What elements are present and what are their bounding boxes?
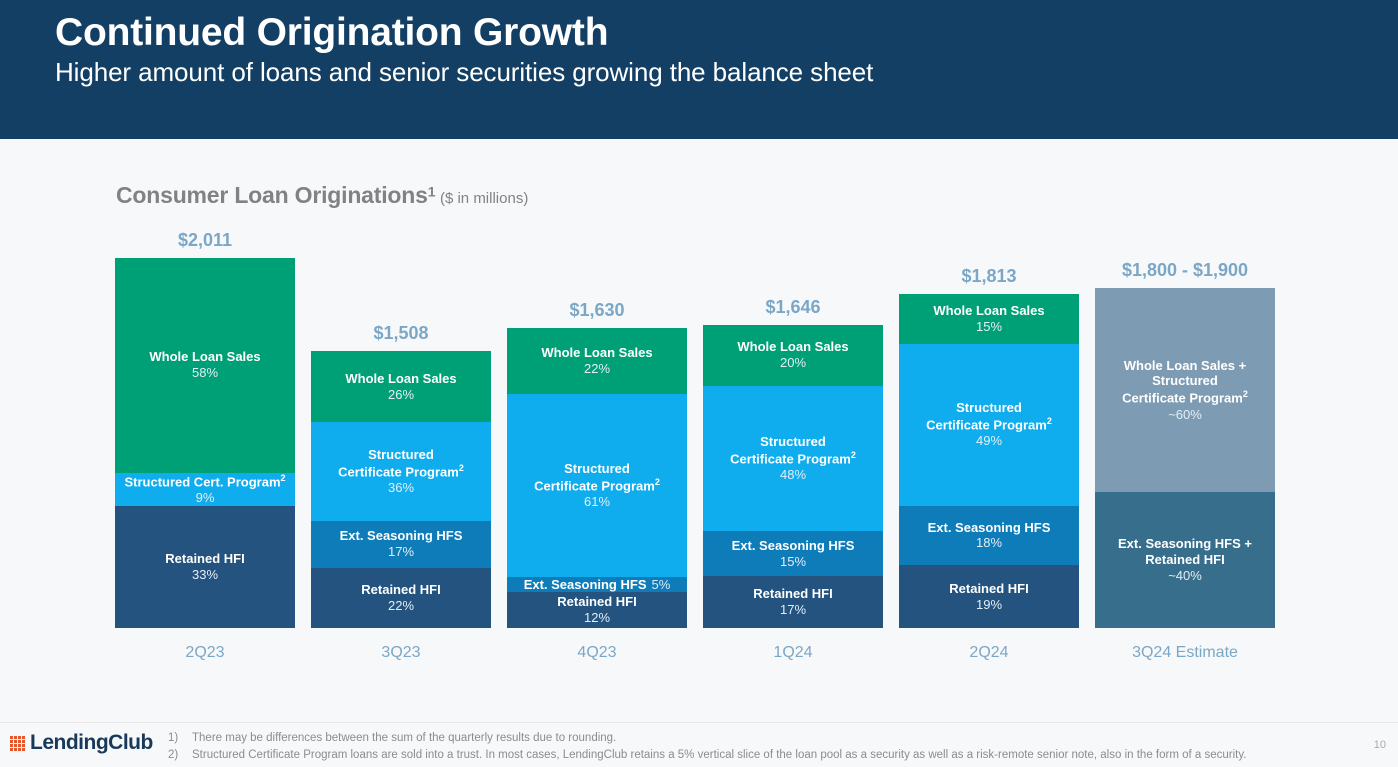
bar-segment-label: Ext. Seasoning HFS [928, 520, 1051, 536]
footnotes: 1)There may be differences between the s… [168, 730, 1246, 765]
bar-segment[interactable]: Ext. Seasoning HFS17% [311, 521, 491, 568]
chart-column: $1,508Whole Loan Sales26%StructuredCerti… [311, 0, 491, 767]
lendingclub-wordmark: LendingClub [30, 731, 153, 755]
bar-segment-label: Retained HFI [361, 582, 440, 598]
bar-segment[interactable]: StructuredCertificate Program249% [899, 344, 1079, 506]
footer-divider [0, 722, 1398, 723]
bar-segment-label: Retained HFI [557, 594, 636, 610]
footnote-superscript: 2 [281, 473, 286, 483]
bar-segment-label: Retained HFI [949, 581, 1028, 597]
bar-segment[interactable]: Whole Loan Sales20% [703, 325, 883, 386]
bar-segment-percent: 22% [388, 598, 414, 614]
bar-segment-percent: ~60% [1168, 407, 1202, 423]
bar-segment[interactable]: Whole Loan Sales15% [899, 294, 1079, 344]
bar-total-label: $1,813 [899, 266, 1079, 287]
bar-segment[interactable]: Ext. Seasoning HFS +Retained HFI~40% [1095, 492, 1275, 628]
footnote-text: Structured Certificate Program loans are… [192, 747, 1246, 764]
bar-segment-label: StructuredCertificate Program2 [338, 447, 464, 480]
bar-segment-label: Whole Loan Sales [149, 349, 260, 365]
bar-segment[interactable]: Retained HFI22% [311, 568, 491, 628]
footnote-superscript: 2 [1243, 389, 1248, 399]
bar-segment-percent: 33% [192, 567, 218, 583]
x-axis-label: 3Q24 Estimate [1095, 644, 1275, 662]
bar-segment[interactable]: Structured Cert. Program29% [115, 473, 295, 506]
chart-column: $1,813Whole Loan Sales15%StructuredCerti… [899, 0, 1079, 767]
bar-segment-percent: 58% [192, 365, 218, 381]
bar-segment-label: Ext. Seasoning HFS +Retained HFI [1118, 536, 1252, 568]
bar-total-label: $1,508 [311, 323, 491, 344]
bar-segment-percent: 22% [584, 361, 610, 377]
bar-segment[interactable]: Retained HFI33% [115, 506, 295, 628]
bar-segment[interactable]: Ext. Seasoning HFS5% [507, 577, 687, 592]
bar-segment-percent: 49% [976, 433, 1002, 449]
bar-segment[interactable]: StructuredCertificate Program248% [703, 386, 883, 531]
bar-segment[interactable]: Whole Loan Sales22% [507, 328, 687, 394]
bar-segment-label: StructuredCertificate Program2 [926, 400, 1052, 433]
bar-segment-label: StructuredCertificate Program2 [730, 434, 856, 467]
bar-segment-percent: 12% [584, 610, 610, 626]
x-axis-label: 1Q24 [703, 644, 883, 662]
lendingclub-mark-icon [10, 736, 25, 751]
bar-segment[interactable]: Whole Loan Sales26% [311, 351, 491, 422]
bar-total-label: $1,630 [507, 300, 687, 321]
bar-segment-percent: 61% [584, 494, 610, 510]
stacked-bar[interactable]: Whole Loan Sales20%StructuredCertificate… [703, 325, 883, 628]
footnote-row: 1)There may be differences between the s… [168, 730, 1246, 747]
bar-segment-label: Ext. Seasoning HFS [732, 538, 855, 554]
bar-total-label: $2,011 [115, 230, 295, 251]
bar-segment[interactable]: StructuredCertificate Program236% [311, 422, 491, 521]
bar-segment-label: Structured Cert. Program2 [124, 473, 285, 490]
footnote-superscript: 2 [851, 450, 856, 460]
bar-segment-percent: 20% [780, 355, 806, 371]
stacked-bar[interactable]: Whole Loan Sales22%StructuredCertificate… [507, 328, 687, 628]
page-number: 10 [1374, 739, 1386, 751]
x-axis-label: 2Q23 [115, 644, 295, 662]
bar-segment[interactable]: Retained HFI17% [703, 576, 883, 628]
bar-segment[interactable]: StructuredCertificate Program261% [507, 394, 687, 577]
bar-segment-percent: 15% [780, 554, 806, 570]
footnote-superscript: 2 [459, 463, 464, 473]
bar-segment-label: Retained HFI [165, 551, 244, 567]
bar-segment[interactable]: Ext. Seasoning HFS15% [703, 531, 883, 576]
bar-segment-percent: 26% [388, 387, 414, 403]
bar-segment-label: Retained HFI [753, 586, 832, 602]
bar-segment-percent: 5% [652, 577, 671, 592]
bar-segment[interactable]: Whole Loan Sales +StructuredCertificate … [1095, 288, 1275, 492]
bar-segment-percent: 36% [388, 480, 414, 496]
bar-segment-percent: 15% [976, 319, 1002, 335]
bar-total-label: $1,646 [703, 297, 883, 318]
bar-segment[interactable]: Ext. Seasoning HFS18% [899, 506, 1079, 566]
bar-segment-percent: 19% [976, 597, 1002, 613]
bar-segment-percent: 9% [196, 490, 215, 506]
stacked-bar[interactable]: Whole Loan Sales58%Structured Cert. Prog… [115, 258, 295, 628]
bar-segment-label: Whole Loan Sales +StructuredCertificate … [1122, 358, 1248, 407]
chart-column: $2,011Whole Loan Sales58%Structured Cert… [115, 0, 295, 767]
bar-segment-percent: 17% [388, 544, 414, 560]
chart-column: $1,800 - $1,900Whole Loan Sales +Structu… [1095, 0, 1275, 767]
bar-segment-percent: 18% [976, 535, 1002, 551]
footnote-row: 2)Structured Certificate Program loans a… [168, 747, 1246, 764]
bar-segment-label: StructuredCertificate Program2 [534, 461, 660, 494]
footnote-number: 2) [168, 747, 184, 764]
stacked-bar-chart: $2,011Whole Loan Sales58%Structured Cert… [0, 0, 1398, 767]
bar-segment-label: Whole Loan Sales [737, 339, 848, 355]
footnote-text: There may be differences between the sum… [192, 730, 616, 747]
bar-segment[interactable]: Whole Loan Sales58% [115, 258, 295, 473]
x-axis-label: 2Q24 [899, 644, 1079, 662]
bar-segment[interactable]: Retained HFI12% [507, 592, 687, 628]
bar-segment-label: Ext. Seasoning HFS [524, 577, 647, 592]
footnote-superscript: 2 [1047, 416, 1052, 426]
bar-segment-percent: ~40% [1168, 568, 1202, 584]
x-axis-label: 4Q23 [507, 644, 687, 662]
bar-segment-percent: 48% [780, 467, 806, 483]
bar-segment[interactable]: Retained HFI19% [899, 565, 1079, 628]
bar-segment-label: Whole Loan Sales [933, 303, 1044, 319]
chart-column: $1,630Whole Loan Sales22%StructuredCerti… [507, 0, 687, 767]
slide: Continued Origination Growth Higher amou… [0, 0, 1398, 767]
lendingclub-logo: LendingClub [10, 731, 153, 755]
footnote-superscript: 2 [655, 477, 660, 487]
bar-segment-label: Whole Loan Sales [345, 371, 456, 387]
bar-segment-label: Whole Loan Sales [541, 345, 652, 361]
chart-column: $1,646Whole Loan Sales20%StructuredCerti… [703, 0, 883, 767]
bar-total-label: $1,800 - $1,900 [1095, 260, 1275, 281]
bar-segment-percent: 17% [780, 602, 806, 618]
footnote-number: 1) [168, 730, 184, 747]
stacked-bar[interactable]: Whole Loan Sales +StructuredCertificate … [1095, 288, 1275, 628]
bar-segment-label: Ext. Seasoning HFS [340, 528, 463, 544]
stacked-bar[interactable]: Whole Loan Sales26%StructuredCertificate… [311, 351, 491, 628]
stacked-bar[interactable]: Whole Loan Sales15%StructuredCertificate… [899, 294, 1079, 628]
x-axis-label: 3Q23 [311, 644, 491, 662]
